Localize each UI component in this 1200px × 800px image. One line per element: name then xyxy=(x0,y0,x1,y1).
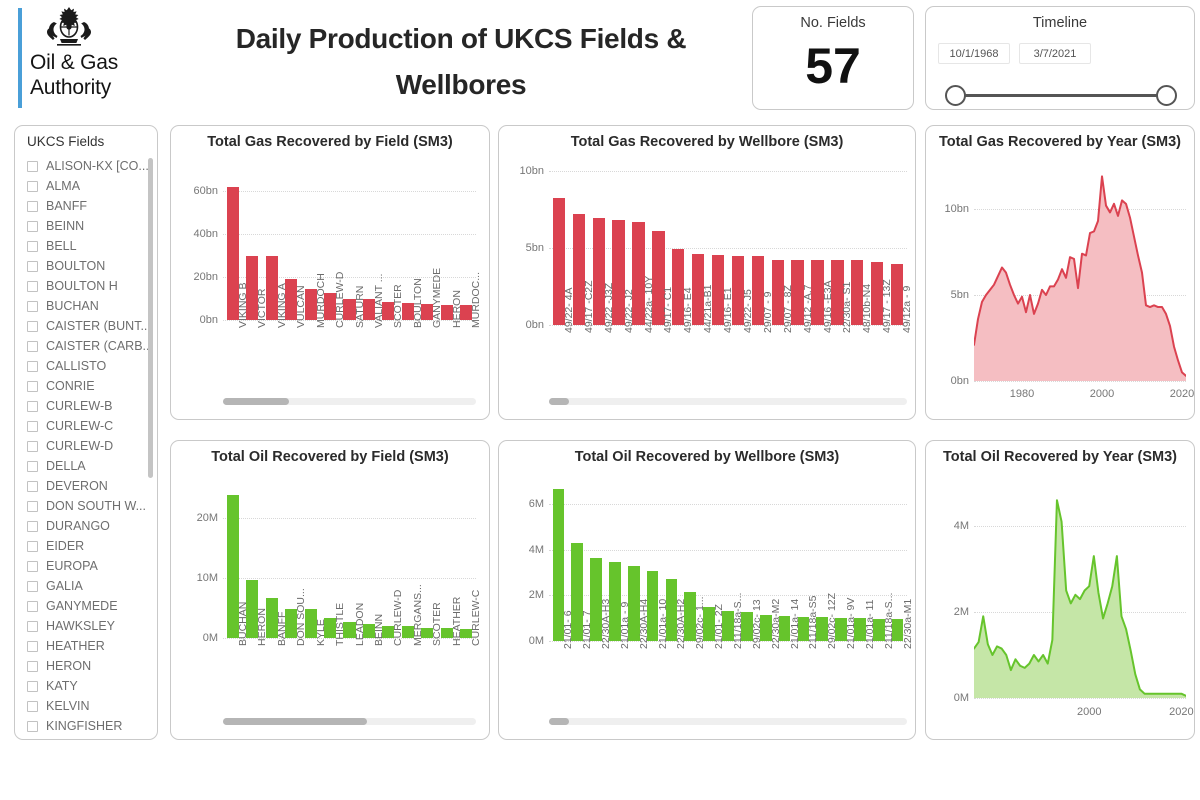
gridline xyxy=(549,504,907,505)
x-axis-category-label: 21/01a- 14 xyxy=(789,599,801,649)
y-axis-tick-label: 20M xyxy=(186,512,218,524)
brand-name-line2: Authority xyxy=(30,75,160,100)
x-axis-category-label: 49/22 -J3Z xyxy=(603,283,615,333)
x-axis-category-label: 211/18a-S5 xyxy=(807,595,819,649)
x-axis-category-label: 22/30A-H2 xyxy=(675,599,687,649)
slicer-item[interactable]: KELVIN xyxy=(15,696,158,716)
timeline-label: Timeline xyxy=(926,15,1194,31)
checkbox-icon[interactable] xyxy=(27,401,38,412)
x-axis-category-label: 21/01a- 11 xyxy=(864,600,876,649)
slicer-item-label: BOULTON H xyxy=(46,279,118,293)
y-axis-tick-label: 0bn xyxy=(182,314,218,326)
slicer-item[interactable]: CAISTER (BUNT... xyxy=(15,316,158,336)
royal-crest-icon xyxy=(38,6,100,48)
slicer-item[interactable]: ALISON-KX [CO... xyxy=(15,156,158,176)
x-axis-category-label: VULCAN xyxy=(295,285,307,328)
checkbox-icon[interactable] xyxy=(27,481,38,492)
checkbox-icon[interactable] xyxy=(27,601,38,612)
timeline-start-date-input[interactable]: 10/1/1968 xyxy=(938,43,1010,64)
chart-title: Total Gas Recovered by Field (SM3) xyxy=(171,134,489,150)
y-axis-tick-label: 0M xyxy=(514,635,544,647)
slicer-item-label: EIDER xyxy=(46,539,84,553)
slicer-item-label: BELL xyxy=(46,239,77,253)
plot-area: 0M2M4M xyxy=(974,483,1186,698)
kpi-value: 57 xyxy=(753,35,913,97)
checkbox-icon[interactable] xyxy=(27,321,38,332)
slicer-item-label: GALIA xyxy=(46,579,83,593)
slicer-item[interactable]: DELLA xyxy=(15,456,158,476)
slicer-item[interactable]: GALIA xyxy=(15,576,158,596)
slicer-item-label: DELLA xyxy=(46,459,86,473)
y-axis-tick-label: 4M xyxy=(939,520,969,532)
chart-title: Total Oil Recovered by Year (SM3) xyxy=(926,449,1194,465)
x-axis-category-label: MURDOC... xyxy=(470,272,482,328)
slicer-item-label: KELVIN xyxy=(46,699,90,713)
slicer-item[interactable]: EUROPA xyxy=(15,556,158,576)
x-axis-category-label: HEATHER xyxy=(451,597,463,646)
slicer-item-label: DURANGO xyxy=(46,519,110,533)
chart-panel-oil-by-field[interactable]: Total Oil Recovered by Field (SM3) 0M10M… xyxy=(170,440,490,740)
slicer-item[interactable]: BOULTON xyxy=(15,256,158,276)
x-axis-tick-label: 2000 xyxy=(1077,706,1101,718)
y-axis-tick-label: 20bn xyxy=(182,271,218,283)
gridline xyxy=(223,578,476,579)
area-series xyxy=(974,166,1186,381)
checkbox-icon[interactable] xyxy=(27,181,38,192)
x-axis-category-label: THISTLE xyxy=(334,603,346,646)
checkbox-icon[interactable] xyxy=(27,641,38,652)
horizontal-scrollbar-thumb[interactable] xyxy=(549,718,569,725)
x-axis-category-label: GANYMEDE xyxy=(431,268,443,328)
y-axis-tick-label: 40bn xyxy=(182,228,218,240)
x-axis-category-label: MERGANS... xyxy=(412,584,424,646)
slicer-item-label: CALLISTO xyxy=(46,359,106,373)
kpi-label: No. Fields xyxy=(753,15,913,31)
timeline-slicer[interactable]: Timeline 10/1/1968 3/7/2021 xyxy=(925,6,1195,110)
y-axis-tick-label: 2M xyxy=(939,606,969,618)
slicer-item-label: HERON xyxy=(46,659,91,673)
checkbox-icon[interactable] xyxy=(27,421,38,432)
x-axis-category-label: 21/01a- 10 xyxy=(657,599,669,649)
timeline-track[interactable] xyxy=(956,94,1166,97)
x-axis-category-label: CURLEW-D xyxy=(334,272,346,328)
x-axis-category-label: 29/07 - 9 xyxy=(762,292,774,333)
x-axis-category-label: 29/02c- 13 xyxy=(751,599,763,649)
x-axis-category-label: 21/01- 6 xyxy=(562,610,574,649)
x-axis-category-label: 211/18a-S... xyxy=(732,593,744,649)
x-axis-category-label: 29/02c- 12Z xyxy=(826,593,838,649)
checkbox-icon[interactable] xyxy=(27,381,38,392)
horizontal-scrollbar-track[interactable] xyxy=(549,398,907,405)
checkbox-icon[interactable] xyxy=(27,201,38,212)
x-axis-category-label: 49/22- J2 xyxy=(623,289,635,333)
x-axis-category-label: 29/02c- 1... xyxy=(694,596,706,649)
x-axis-category-label: VIKING A xyxy=(276,283,288,328)
slicer-item[interactable]: HEATHER xyxy=(15,636,158,656)
slicer-item-label: KINGFISHER xyxy=(46,719,122,733)
slicer-item[interactable]: EIDER xyxy=(15,536,158,556)
slicer-item[interactable]: KINGFISHER xyxy=(15,716,158,736)
gridline xyxy=(549,550,907,551)
x-axis-category-label: 22/30a- S1 xyxy=(841,282,853,333)
brand-accent-bar xyxy=(18,8,22,108)
slicer-item[interactable]: BOULTON H xyxy=(15,276,158,296)
slicer-item[interactable]: CURLEW-D xyxy=(15,436,158,456)
chart-panel-oil-by-year[interactable]: Total Oil Recovered by Year (SM3) 0M2M4M… xyxy=(925,440,1195,740)
x-axis-category-label: 21/01- 2Z xyxy=(713,604,725,649)
ukcs-fields-slicer[interactable]: UKCS Fields ALISON-KX [CO...ALMABANFFBEI… xyxy=(14,125,158,740)
gridline xyxy=(223,518,476,519)
checkbox-icon[interactable] xyxy=(27,441,38,452)
slicer-item-label: ALISON-KX [CO... xyxy=(46,159,149,173)
y-axis-tick-label: 0M xyxy=(939,692,969,704)
gridline xyxy=(223,191,476,192)
slicer-item-label: CURLEW-B xyxy=(46,399,112,413)
x-axis-category-label: 49/16- E1 xyxy=(722,287,734,333)
brand-logo: Oil & Gas Authority xyxy=(18,6,158,110)
slicer-item-label: BUCHAN xyxy=(46,299,99,313)
x-axis-category-label: 49/16- E4 xyxy=(682,287,694,333)
chart-title: Total Gas Recovered by Year (SM3) xyxy=(926,134,1194,150)
slicer-item-label: CURLEW-C xyxy=(46,419,113,433)
y-axis-tick-label: 5bn xyxy=(510,242,544,254)
slicer-item[interactable]: GANYMEDE xyxy=(15,596,158,616)
slicer-item-label: GANYMEDE xyxy=(46,599,118,613)
x-axis-category-label: 22/30A-H4 xyxy=(638,599,650,649)
chart-panel-oil-by-wellbore[interactable]: Total Oil Recovered by Wellbore (SM3) 0M… xyxy=(498,440,916,740)
x-axis-category-label: 49/17 -C2Z xyxy=(583,280,595,333)
slicer-item-label: CONRIE xyxy=(46,379,95,393)
checkbox-icon[interactable] xyxy=(27,621,38,632)
slicer-item-label: HEATHER xyxy=(46,639,105,653)
y-axis-tick-label: 5bn xyxy=(935,289,969,301)
x-axis-tick-label: 2000 xyxy=(1090,388,1114,400)
checkbox-icon[interactable] xyxy=(27,681,38,692)
x-axis-category-label: 44/22a- 10Y xyxy=(643,276,655,333)
chart-panel-gas-by-wellbore[interactable]: Total Gas Recovered by Wellbore (SM3) 0b… xyxy=(498,125,916,420)
checkbox-icon[interactable] xyxy=(27,221,38,232)
slicer-item[interactable]: CURLEW-B xyxy=(15,396,158,416)
slicer-item-label: BOULTON xyxy=(46,259,105,273)
slicer-item-label: ALMA xyxy=(46,179,80,193)
chart-title: Total Oil Recovered by Wellbore (SM3) xyxy=(499,449,915,465)
x-axis-category-label: 21/01- 7 xyxy=(581,610,593,649)
horizontal-scrollbar-thumb[interactable] xyxy=(223,398,289,405)
checkbox-icon[interactable] xyxy=(27,501,38,512)
brand-name: Oil & Gas Authority xyxy=(30,50,160,100)
slicer-item[interactable]: BELL xyxy=(15,236,158,256)
checkbox-icon[interactable] xyxy=(27,581,38,592)
x-axis-category-label: VICTOR xyxy=(256,289,268,328)
y-axis-tick-label: 0bn xyxy=(935,375,969,387)
brand-name-line1: Oil & Gas xyxy=(30,50,160,75)
gridline xyxy=(974,698,1186,699)
chart-panel-gas-by-year[interactable]: Total Gas Recovered by Year (SM3) 0bn5bn… xyxy=(925,125,1195,420)
slicer-item-label: CURLEW-D xyxy=(46,439,113,453)
slicer-title: UKCS Fields xyxy=(27,134,104,149)
x-axis-category-label: BOULTON xyxy=(412,278,424,328)
slicer-item[interactable]: DEVERON xyxy=(15,476,158,496)
x-axis-category-label: CURLEW-C xyxy=(470,590,482,646)
slicer-item[interactable]: CALLISTO xyxy=(15,356,158,376)
x-axis-category-label: 49/22- 4A xyxy=(563,287,575,333)
slicer-item-label: HAWKSLEY xyxy=(46,619,115,633)
slicer-item[interactable]: CONRIE xyxy=(15,376,158,396)
x-axis-category-label: 44/21a-B1 xyxy=(702,285,714,333)
kpi-card-no-fields: No. Fields 57 xyxy=(752,6,914,110)
x-axis-category-label: 49/12 -A.7 xyxy=(802,285,814,333)
chart-panel-gas-by-field[interactable]: Total Gas Recovered by Field (SM3) 0bn20… xyxy=(170,125,490,420)
slicer-item[interactable]: BUCHAN xyxy=(15,296,158,316)
y-axis-tick-label: 60bn xyxy=(182,185,218,197)
timeline-handle-right[interactable] xyxy=(1156,85,1177,106)
x-axis-category-label: 21/01a- 9V xyxy=(845,598,857,649)
x-axis-category-label: BANFF xyxy=(276,612,288,646)
slicer-item[interactable]: CAISTER (CARB... xyxy=(15,336,158,356)
y-axis-tick-label: 0M xyxy=(186,632,218,644)
checkbox-icon[interactable] xyxy=(27,261,38,272)
checkbox-icon[interactable] xyxy=(27,541,38,552)
x-axis-category-label: SCOTER xyxy=(392,284,404,328)
slicer-item[interactable]: DURANGO xyxy=(15,516,158,536)
slicer-item[interactable]: HERON xyxy=(15,656,158,676)
checkbox-icon[interactable] xyxy=(27,661,38,672)
slicer-item[interactable]: CURLEW-C xyxy=(15,416,158,436)
slicer-item-label: KATY xyxy=(46,679,78,693)
checkbox-icon[interactable] xyxy=(27,361,38,372)
slicer-item-label: DEVERON xyxy=(46,479,108,493)
x-axis-category-label: HERON xyxy=(256,608,268,646)
gridline xyxy=(974,381,1186,382)
slicer-item[interactable]: HAWKSLEY xyxy=(15,616,158,636)
y-axis-tick-label: 10bn xyxy=(510,165,544,177)
slicer-item[interactable]: BEINN xyxy=(15,216,158,236)
x-axis-category-label: 49/12a - 9 xyxy=(901,286,913,333)
horizontal-scrollbar-thumb[interactable] xyxy=(549,398,569,405)
slicer-item-label: BEINN xyxy=(46,219,84,233)
checkbox-icon[interactable] xyxy=(27,721,38,732)
slicer-item[interactable]: BANFF xyxy=(15,196,158,216)
y-axis-tick-label: 10M xyxy=(186,572,218,584)
slicer-item-list[interactable]: ALISON-KX [CO...ALMABANFFBEINNBELLBOULTO… xyxy=(15,156,158,738)
x-axis-category-label: KYLE xyxy=(315,619,327,646)
checkbox-icon[interactable] xyxy=(27,701,38,712)
slicer-item-label: CAISTER (BUNT... xyxy=(46,319,151,333)
timeline-handle-left[interactable] xyxy=(945,85,966,106)
x-axis-category-label: CURLEW-D xyxy=(392,590,404,646)
x-axis-category-label: 29/07 - 8Z xyxy=(782,285,794,333)
checkbox-icon[interactable] xyxy=(27,161,38,172)
checkbox-icon[interactable] xyxy=(27,561,38,572)
x-axis-category-label: 22/30a-M1 xyxy=(902,599,914,649)
checkbox-icon[interactable] xyxy=(27,241,38,252)
x-axis-category-label: 21/01a - 9 xyxy=(619,602,631,649)
chart-title: Total Gas Recovered by Wellbore (SM3) xyxy=(499,134,915,150)
x-axis-category-label: SATURN xyxy=(354,286,366,328)
slicer-item[interactable]: DON SOUTH W... xyxy=(15,496,158,516)
gridline xyxy=(549,595,907,596)
x-axis-category-label: 22/30A-H3 xyxy=(600,599,612,649)
x-axis-tick-label: 1980 xyxy=(1010,388,1034,400)
checkbox-icon[interactable] xyxy=(27,301,38,312)
x-axis-category-label: 49/17 - 13Z xyxy=(881,279,893,333)
slicer-item-label: DON SOUTH W... xyxy=(46,499,146,513)
y-axis-tick-label: 6M xyxy=(514,498,544,510)
plot-area: 0bn5bn10bn xyxy=(974,166,1186,381)
y-axis-tick-label: 10bn xyxy=(935,203,969,215)
horizontal-scrollbar-track[interactable] xyxy=(549,718,907,725)
x-axis-category-label: 49/17- C1 xyxy=(662,287,674,333)
y-axis-tick-label: 2M xyxy=(514,589,544,601)
checkbox-icon[interactable] xyxy=(27,281,38,292)
slicer-item-label: EUROPA xyxy=(46,559,98,573)
slicer-item[interactable]: KATY xyxy=(15,676,158,696)
x-axis-category-label: 211/18a-S... xyxy=(883,593,895,649)
x-axis-category-label: SCOTER xyxy=(431,602,443,646)
gridline xyxy=(549,171,907,172)
x-axis-category-label: 22/30a-M2 xyxy=(770,599,782,649)
x-axis-category-label: MURDOCH xyxy=(315,273,327,328)
slicer-item[interactable]: ALMA xyxy=(15,176,158,196)
x-axis-category-label: 49/22- J5 xyxy=(742,289,754,333)
x-axis-category-label: 49/16 -E3A xyxy=(822,280,834,333)
horizontal-scrollbar-thumb[interactable] xyxy=(223,718,367,725)
x-axis-category-label: BUCHAN xyxy=(237,602,249,646)
x-axis-category-label: DON SOU... xyxy=(295,588,307,646)
area-series xyxy=(974,483,1186,698)
slicer-item-label: CAISTER (CARB... xyxy=(46,339,153,353)
x-axis-category-label: 48/10b-N4 xyxy=(861,284,873,333)
chart-title: Total Oil Recovered by Field (SM3) xyxy=(171,449,489,465)
x-axis-category-label: VALIANT ... xyxy=(373,274,385,328)
dashboard-header: Oil & Gas Authority Daily Production of … xyxy=(0,0,1200,118)
gridline xyxy=(223,234,476,235)
y-axis-tick-label: 0bn xyxy=(510,319,544,331)
slicer-item-label: BANFF xyxy=(46,199,87,213)
y-axis-tick-label: 4M xyxy=(514,544,544,556)
x-axis-tick-label: 2020 xyxy=(1169,706,1193,718)
x-axis-category-label: HERON xyxy=(451,290,463,328)
checkbox-icon[interactable] xyxy=(27,461,38,472)
timeline-end-date-input[interactable]: 3/7/2021 xyxy=(1019,43,1091,64)
x-axis-category-label: LEADON xyxy=(354,603,366,646)
x-axis-tick-label: 2020 xyxy=(1170,388,1194,400)
x-axis-category-label: VIKING B xyxy=(237,282,249,328)
slicer-scrollbar-thumb[interactable] xyxy=(148,158,153,478)
checkbox-icon[interactable] xyxy=(27,341,38,352)
x-axis-category-label: BEINN xyxy=(373,614,385,646)
checkbox-icon[interactable] xyxy=(27,521,38,532)
page-title: Daily Production of UKCS Fields & Wellbo… xyxy=(186,16,736,108)
